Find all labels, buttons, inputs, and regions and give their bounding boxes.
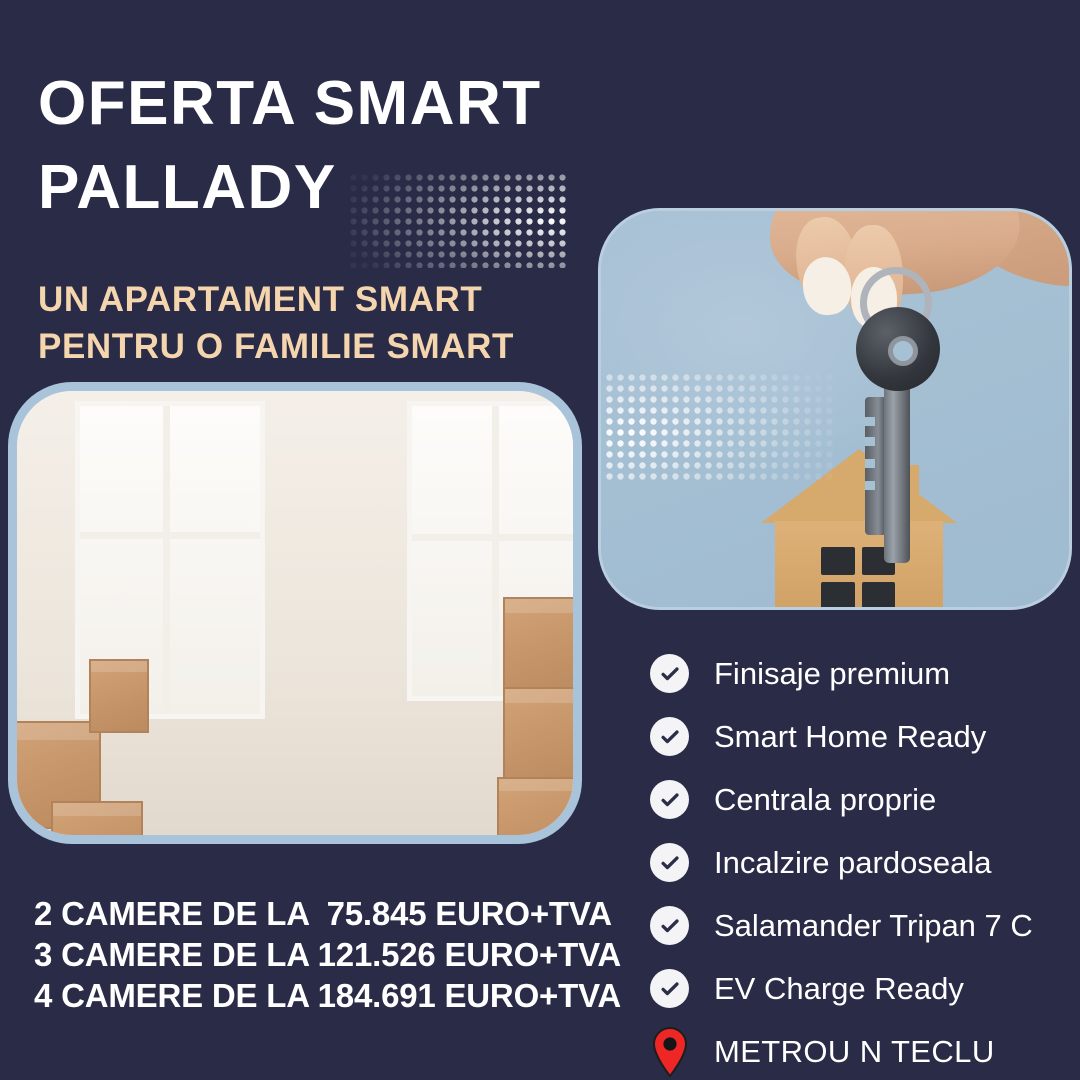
house-window-pane — [821, 547, 855, 575]
house-window-pane — [821, 582, 855, 610]
check-circle-icon — [650, 717, 689, 756]
price-list: 2 CAMERE DE LA 75.845 EURO+TVA 3 CAMERE … — [34, 893, 621, 1016]
moving-box — [503, 597, 582, 689]
feature-label: Salamander Tripan 7 C — [714, 909, 1033, 943]
key-tooth — [865, 437, 875, 446]
headline-block: OFERTA SMART PALLADY — [38, 62, 598, 230]
key-tooth — [865, 459, 875, 468]
key-hole — [888, 336, 918, 366]
moving-box — [497, 777, 582, 844]
subheadline-line-1: UN APARTAMENT SMART — [38, 276, 514, 323]
moving-box — [89, 659, 149, 733]
window-mullion — [412, 534, 582, 541]
headline-line-2: PALLADY — [38, 146, 598, 230]
headline-line-1: OFERTA SMART — [38, 62, 598, 146]
price-row: 2 CAMERE DE LA 75.845 EURO+TVA — [34, 893, 621, 934]
key-tooth — [865, 417, 875, 426]
moving-box — [503, 687, 582, 779]
feature-item-incalzire-pardoseala: Incalzire pardoseala — [650, 831, 1033, 894]
feature-item-centrala-proprie: Centrala proprie — [650, 768, 1033, 831]
family-photo-panel — [8, 382, 582, 844]
poster-canvas: OFERTA SMART PALLADY UN APARTAMENT SMART… — [0, 0, 1080, 1080]
price-row: 3 CAMERE DE LA 121.526 EURO+TVA — [34, 934, 621, 975]
price-row: 4 CAMERE DE LA 184.691 EURO+TVA — [34, 975, 621, 1016]
feature-item-smart-home-ready: Smart Home Ready — [650, 705, 1033, 768]
window-mullion — [80, 532, 260, 539]
map-pin-icon — [650, 1032, 689, 1071]
feature-label: Smart Home Ready — [714, 720, 986, 754]
feature-label: EV Charge Ready — [714, 972, 964, 1006]
window-mullion — [163, 406, 170, 714]
feature-label: Finisaje premium — [714, 657, 950, 691]
check-circle-icon — [650, 969, 689, 1008]
check-circle-icon — [650, 780, 689, 819]
window-mullion — [492, 406, 499, 696]
feature-label: METROU N TECLU — [714, 1035, 995, 1069]
subheadline-block: UN APARTAMENT SMART PENTRU O FAMILIE SMA… — [38, 276, 514, 370]
feature-label: Incalzire pardoseala — [714, 846, 991, 880]
feature-item-metrou-n-teclu: METROU N TECLU — [650, 1020, 1033, 1080]
subheadline-line-2: PENTRU O FAMILIE SMART — [38, 323, 514, 370]
feature-label: Centrala proprie — [714, 783, 936, 817]
house-roof — [761, 449, 957, 523]
check-circle-icon — [650, 654, 689, 693]
feature-list: Finisaje premium Smart Home Ready Centra… — [650, 642, 1033, 1080]
house-window-pane — [862, 582, 896, 610]
feature-item-ev-charge-ready: EV Charge Ready — [650, 957, 1033, 1020]
check-circle-icon — [650, 906, 689, 945]
feature-item-finisaje-premium: Finisaje premium — [650, 642, 1033, 705]
feature-item-salamander-tripan-7c: Salamander Tripan 7 C — [650, 894, 1033, 957]
key-photo-panel — [598, 208, 1072, 610]
key-shaft — [884, 377, 910, 563]
key-tooth — [865, 481, 875, 490]
wooden-house-keychain — [761, 449, 957, 610]
check-circle-icon — [650, 843, 689, 882]
moving-box — [51, 801, 143, 844]
